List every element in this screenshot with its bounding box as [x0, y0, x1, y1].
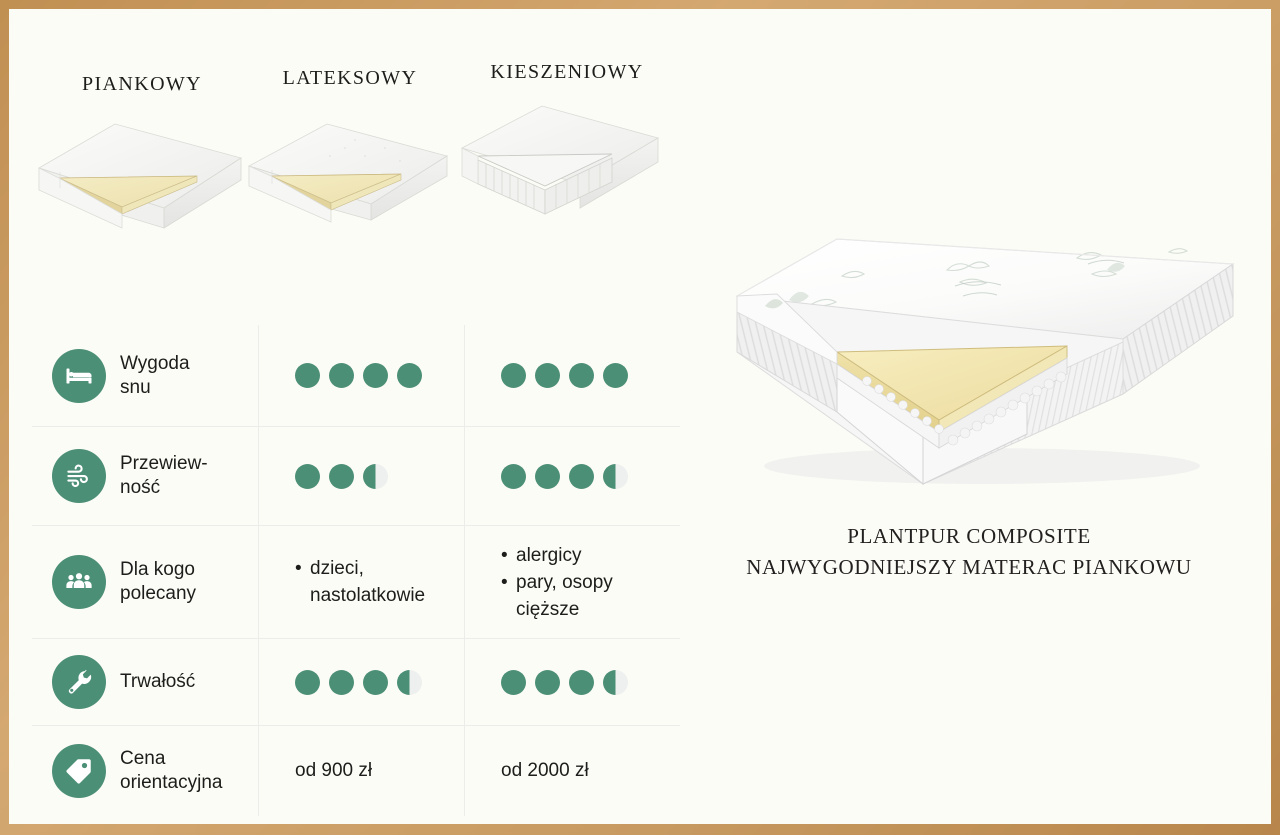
- row-label-text: Dla kogopolecany: [120, 558, 196, 606]
- row-label-text: Przewiew-ność: [120, 452, 208, 500]
- rating-dot: [535, 363, 560, 388]
- hero-caption-line2: NAJWYGODNIEJSZY MATERAC PIANKOWU: [746, 555, 1191, 579]
- recommendation-list: alergicy pary, osopy cięższe: [501, 542, 671, 623]
- mattress-type-title: PIANKOWY: [27, 73, 257, 96]
- table-row: Przewiew-ność: [32, 427, 680, 526]
- row-label-text: Wygodasnu: [120, 352, 190, 400]
- cell-foam-comfort: [258, 325, 464, 426]
- table-row: Dla kogopolecany dzieci,nastolatkowie al…: [32, 526, 680, 639]
- list-item: alergicy: [501, 542, 671, 569]
- rating-dot-half: [603, 670, 628, 695]
- latex-mattress-illustration: [235, 104, 465, 234]
- rating-dot: [329, 464, 354, 489]
- list-item: dzieci,nastolatkowie: [295, 555, 364, 609]
- mattress-type-latex: LATEKSOWY: [235, 9, 465, 234]
- row-label-durability: Trwałość: [32, 639, 258, 725]
- wrench-icon: [52, 655, 106, 709]
- row-label-recommended-for: Dla kogopolecany: [32, 526, 258, 638]
- mattress-type-pocket: KIESZENIOWY: [452, 9, 682, 228]
- rating-dot: [295, 363, 320, 388]
- price-value: od 900 zł: [295, 758, 372, 784]
- rating-dots: [501, 464, 628, 489]
- rating-dot: [501, 670, 526, 695]
- mattress-type-foam: PIANKOWY: [27, 9, 257, 240]
- rating-dots: [501, 363, 628, 388]
- cell-latex-breathability: [464, 427, 671, 525]
- row-label-text: Cenaorientacyjna: [120, 747, 222, 795]
- hero-caption-line1: PLANTPUR COMPOSITE: [847, 524, 1091, 548]
- table-row: Cenaorientacyjna od 900 zł od 2000 zł: [32, 726, 680, 816]
- rating-dots: [295, 670, 422, 695]
- row-label-text: Trwałość: [120, 670, 195, 694]
- rating-dot: [535, 464, 560, 489]
- rating-dot: [329, 670, 354, 695]
- row-label-price: Cenaorientacyjna: [32, 726, 258, 816]
- rating-dot: [363, 670, 388, 695]
- rating-dot: [363, 363, 388, 388]
- rating-dots: [295, 464, 388, 489]
- row-label-comfort: Wygodasnu: [32, 325, 258, 426]
- table-row: Trwałość: [32, 639, 680, 726]
- wind-icon: [52, 449, 106, 503]
- rating-dots: [295, 363, 422, 388]
- cell-latex-price: od 2000 zł: [464, 726, 671, 816]
- poster-canvas: PIANKOWY: [9, 9, 1271, 824]
- rating-dot-half: [363, 464, 388, 489]
- rating-dot: [569, 363, 594, 388]
- rating-dot: [569, 464, 594, 489]
- cell-latex-durability: [464, 639, 671, 725]
- rating-dot: [329, 363, 354, 388]
- price-value: od 2000 zł: [501, 758, 589, 784]
- recommendation-list: dzieci,nastolatkowie: [295, 555, 364, 609]
- mattress-type-title: LATEKSOWY: [235, 67, 465, 90]
- plantpur-composite-mattress-cutaway: [717, 234, 1247, 499]
- rating-dot: [295, 464, 320, 489]
- rating-dot-half: [603, 464, 628, 489]
- rating-dot: [501, 464, 526, 489]
- rating-dot: [535, 670, 560, 695]
- rating-dot: [295, 670, 320, 695]
- hero-caption: PLANTPUR COMPOSITE NAJWYGODNIEJSZY MATER…: [709, 521, 1229, 583]
- row-label-breathability: Przewiew-ność: [32, 427, 258, 525]
- cell-latex-comfort: [464, 325, 671, 426]
- rating-dot-half: [397, 670, 422, 695]
- rating-dot: [569, 670, 594, 695]
- rating-dots: [501, 670, 628, 695]
- mattress-types-row: PIANKOWY: [9, 9, 699, 309]
- cell-foam-price: od 900 zł: [258, 726, 464, 816]
- table-row: Wygodasnu: [32, 325, 680, 427]
- rating-dot: [603, 363, 628, 388]
- rating-dot: [501, 363, 526, 388]
- people-icon: [52, 555, 106, 609]
- mattress-type-title: KIESZENIOWY: [452, 61, 682, 84]
- cell-foam-durability: [258, 639, 464, 725]
- cell-foam-recommended-for: dzieci,nastolatkowie: [258, 526, 464, 638]
- pocket-spring-mattress-illustration: [452, 98, 682, 228]
- bed-icon: [52, 349, 106, 403]
- comparison-table: Wygodasnu: [32, 325, 680, 816]
- poster-frame: PIANKOWY: [0, 0, 1280, 835]
- cell-foam-breathability: [258, 427, 464, 525]
- price-tag-icon: [52, 744, 106, 798]
- foam-mattress-illustration: [27, 110, 257, 240]
- rating-dot: [397, 363, 422, 388]
- list-item: pary, osopy cięższe: [501, 569, 671, 623]
- hero-product: PLANTPUR COMPOSITE NAJWYGODNIEJSZY MATER…: [709, 234, 1269, 583]
- cell-latex-recommended-for: alergicy pary, osopy cięższe: [464, 526, 671, 638]
